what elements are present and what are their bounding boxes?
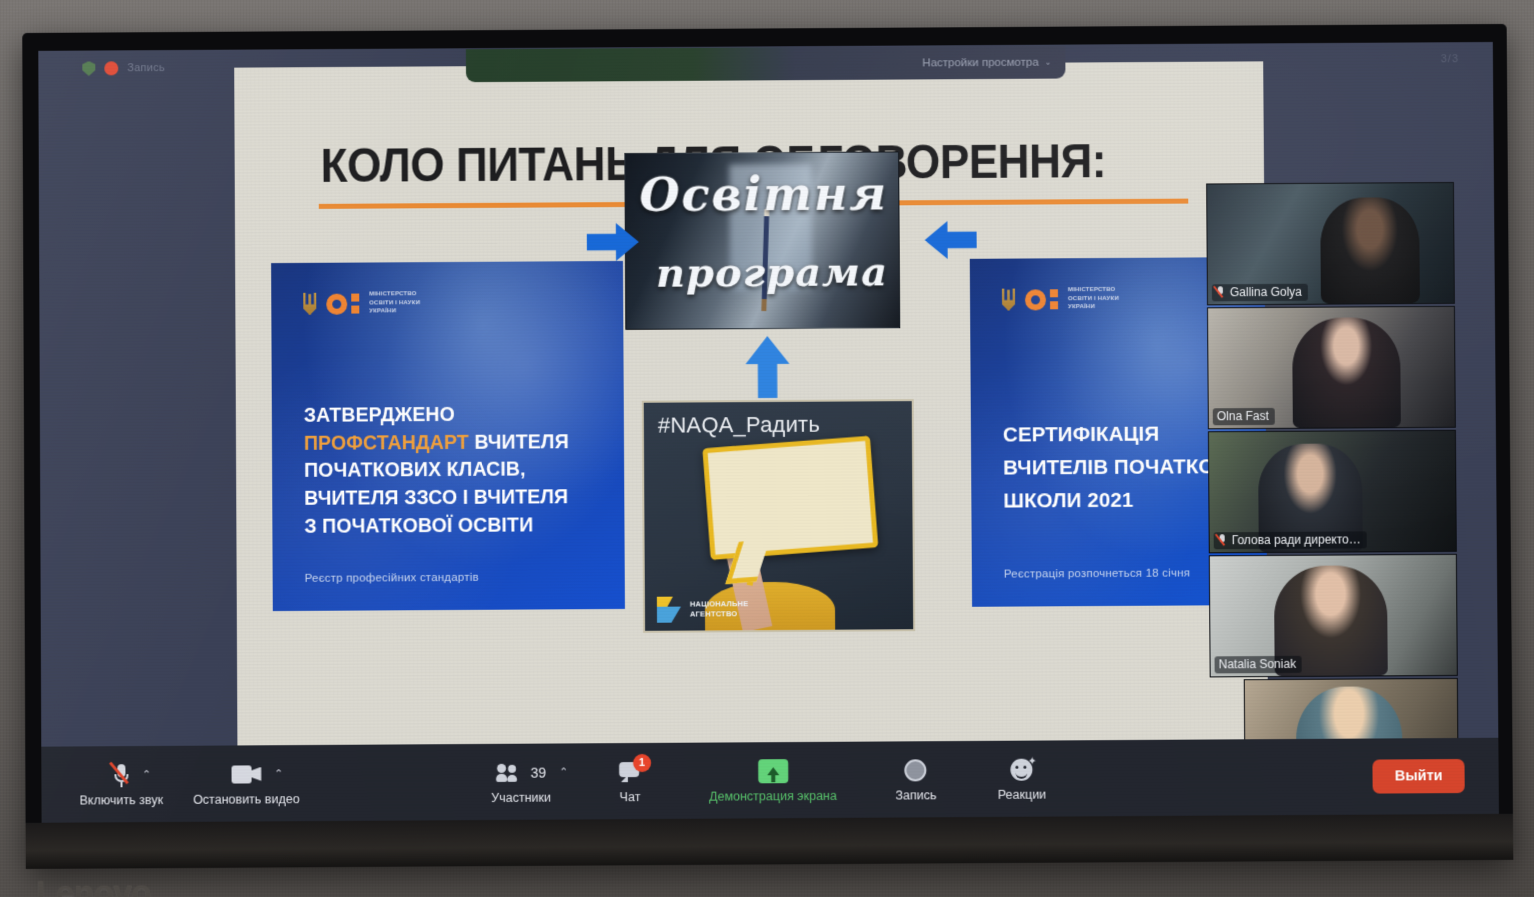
participant-name-badge: Голова ради директо… [1214, 531, 1367, 549]
naqa-hashtag: #NAQA_Радить [658, 412, 820, 439]
participant-name-badge: Natalia Soniak [1215, 656, 1303, 674]
reactions-button[interactable]: ✦ Реакции [995, 756, 1049, 801]
participant-name: Голова ради директо… [1232, 532, 1361, 547]
arrow-left-icon [925, 221, 977, 259]
center-script-line-1: Освітня [639, 166, 888, 221]
shared-screen-slide: КОЛО ПИТАНЬ ДЛЯ ОБГОВОРЕННЯ: МІНІСТЕРСТВ… [234, 61, 1269, 817]
card-left-line-1: ЗАТВЕРДЖЕНО [304, 404, 455, 427]
zoom-meeting-screen: Запись Настройки просмотра ⌄ 3/3 КОЛО ПИ… [38, 42, 1499, 823]
chat-label: Чат [620, 790, 641, 804]
participant-name: Gallina Golya [1230, 285, 1302, 299]
record-icon [905, 759, 927, 781]
trident-icon [1002, 289, 1015, 311]
card-left-line-3: ПОЧАТКОВИХ КЛАСІВ, [304, 459, 526, 482]
monitor: Запись Настройки просмотра ⌄ 3/3 КОЛО ПИ… [22, 24, 1513, 869]
view-settings-label: Настройки просмотра [922, 56, 1038, 69]
unmute-label: Включить звук [79, 792, 163, 807]
participants-count: 39 [531, 764, 547, 780]
card-right-line-2: ВЧИТЕЛІВ ПОЧАТКОВ [1003, 455, 1229, 479]
recording-indicator: Запись [38, 61, 165, 77]
participant-tile[interactable]: Natalia Soniak [1209, 554, 1458, 678]
audio-options-chevron-up-icon[interactable]: ⌃ [142, 768, 151, 781]
participant-tile[interactable]: Голова ради директо… [1208, 430, 1457, 554]
reactions-label: Реакции [998, 787, 1046, 801]
participant-name-badge: Olna Fast [1213, 408, 1275, 425]
participants-chevron-up-icon[interactable]: ⌃ [559, 765, 568, 778]
card-left-line-2: ВЧИТЕЛЯ [469, 431, 569, 454]
mic-muted-icon [1218, 534, 1227, 547]
shield-icon [82, 61, 95, 76]
view-settings-dropdown[interactable]: Настройки просмотра ⌄ [466, 46, 1066, 83]
card-right-line-1: СЕРТИФІКАЦІЯ [1003, 423, 1159, 447]
chat-icon: 1 [619, 762, 641, 781]
mic-muted-icon [1216, 286, 1225, 299]
center-image-osvitnya-programa: Освітня програма [624, 151, 900, 329]
participant-name-badge: Gallina Golya [1212, 284, 1308, 302]
unmute-button[interactable]: ⌃ Включить звук [79, 761, 163, 807]
participant-filmstrip[interactable]: Gallina Golya Olna Fast Голова ради дире… [1206, 182, 1459, 804]
naqa-logo-text: НАЦІОНАЛЬНЕ АГЕНТСТВО [690, 599, 749, 619]
leave-meeting-button[interactable]: Выйти [1373, 759, 1465, 794]
participant-name: Natalia Soniak [1219, 657, 1297, 671]
participants-button[interactable]: 39 ⌃ Участники [491, 759, 551, 804]
ministry-logo: МІНІСТЕРСТВО ОСВІТИ І НАУКИ УКРАЇНИ [303, 290, 420, 317]
video-options-chevron-up-icon[interactable]: ⌃ [274, 767, 283, 780]
card-profstandard: МІНІСТЕРСТВО ОСВІТИ І НАУКИ УКРАЇНИ ЗАТВ… [271, 261, 625, 611]
meeting-toolbar: ⌃ Включить звук ⌃ Остановить видео [41, 738, 1499, 823]
arrow-up-icon [745, 336, 789, 398]
naqa-logo: НАЦІОНАЛЬНЕ АГЕНТСТВО [657, 596, 749, 623]
naqa-mark-icon [657, 597, 683, 623]
card-left-heading: ЗАТВЕРДЖЕНО ПРОФСТАНДАРТ ВЧИТЕЛЯ ПОЧАТКО… [304, 401, 605, 541]
stop-video-button[interactable]: ⌃ Остановить видео [193, 761, 300, 807]
card-left-highlight: ПРОФСТАНДАРТ [304, 432, 469, 455]
record-dot-icon[interactable] [104, 61, 118, 75]
participants-label: Участники [491, 790, 551, 804]
chat-button[interactable]: 1 Чат [603, 758, 657, 803]
trident-icon [303, 293, 316, 315]
record-label: Запись [895, 788, 936, 802]
record-button[interactable]: Запись [889, 757, 943, 802]
share-screen-icon [758, 759, 788, 783]
mic-muted-icon [113, 763, 129, 787]
monitor-bezel [26, 814, 1514, 869]
people-icon [496, 763, 526, 781]
recording-label: Запись [127, 62, 165, 74]
chat-unread-badge: 1 [633, 754, 651, 772]
camera-icon [231, 765, 261, 783]
card-left-line-4: ВЧИТЕЛЯ ЗЗСО І ВЧИТЕЛЯ [304, 486, 568, 510]
participant-name: Olna Fast [1217, 409, 1269, 423]
ministry-logo: МІНІСТЕРСТВО ОСВІТИ І НАУКИ УКРАЇНИ [1002, 286, 1119, 313]
mon-mark-icon [326, 293, 359, 314]
speech-bubble-icon [702, 436, 878, 560]
card-right-line-3: ШКОЛИ 2021 [1003, 489, 1133, 513]
lenovo-brand-logo: Lenovo [36, 873, 151, 897]
reactions-icon: ✦ [1011, 758, 1033, 780]
card-left-footer: Реєстр професійних стандартів [305, 571, 605, 585]
mon-mark-icon [1025, 289, 1058, 310]
stop-video-label: Остановить видео [193, 792, 300, 807]
participant-tile[interactable]: Olna Fast [1207, 306, 1456, 429]
page-counter: 3/3 [1441, 53, 1459, 65]
center-script-line-2: програма [656, 248, 888, 296]
card-naqa-radyt: #NAQA_Радить НАЦІОНАЛЬНЕ АГЕНТСТВО [642, 399, 915, 633]
participant-tile[interactable]: Gallina Golya [1206, 182, 1455, 305]
card-left-line-5: З ПОЧАТКОВОЇ ОСВІТИ [304, 514, 533, 537]
ministry-logo-text: МІНІСТЕРСТВО ОСВІТИ І НАУКИ УКРАЇНИ [369, 290, 420, 316]
chevron-down-icon: ⌄ [1045, 58, 1052, 67]
meeting-top-bar: Запись Настройки просмотра ⌄ 3/3 [38, 42, 1493, 87]
share-screen-label: Демонстрация экрана [709, 788, 837, 803]
ministry-logo-text: МІНІСТЕРСТВО ОСВІТИ І НАУКИ УКРАЇНИ [1068, 286, 1119, 312]
share-screen-button[interactable]: Демонстрация экрана [709, 757, 837, 803]
